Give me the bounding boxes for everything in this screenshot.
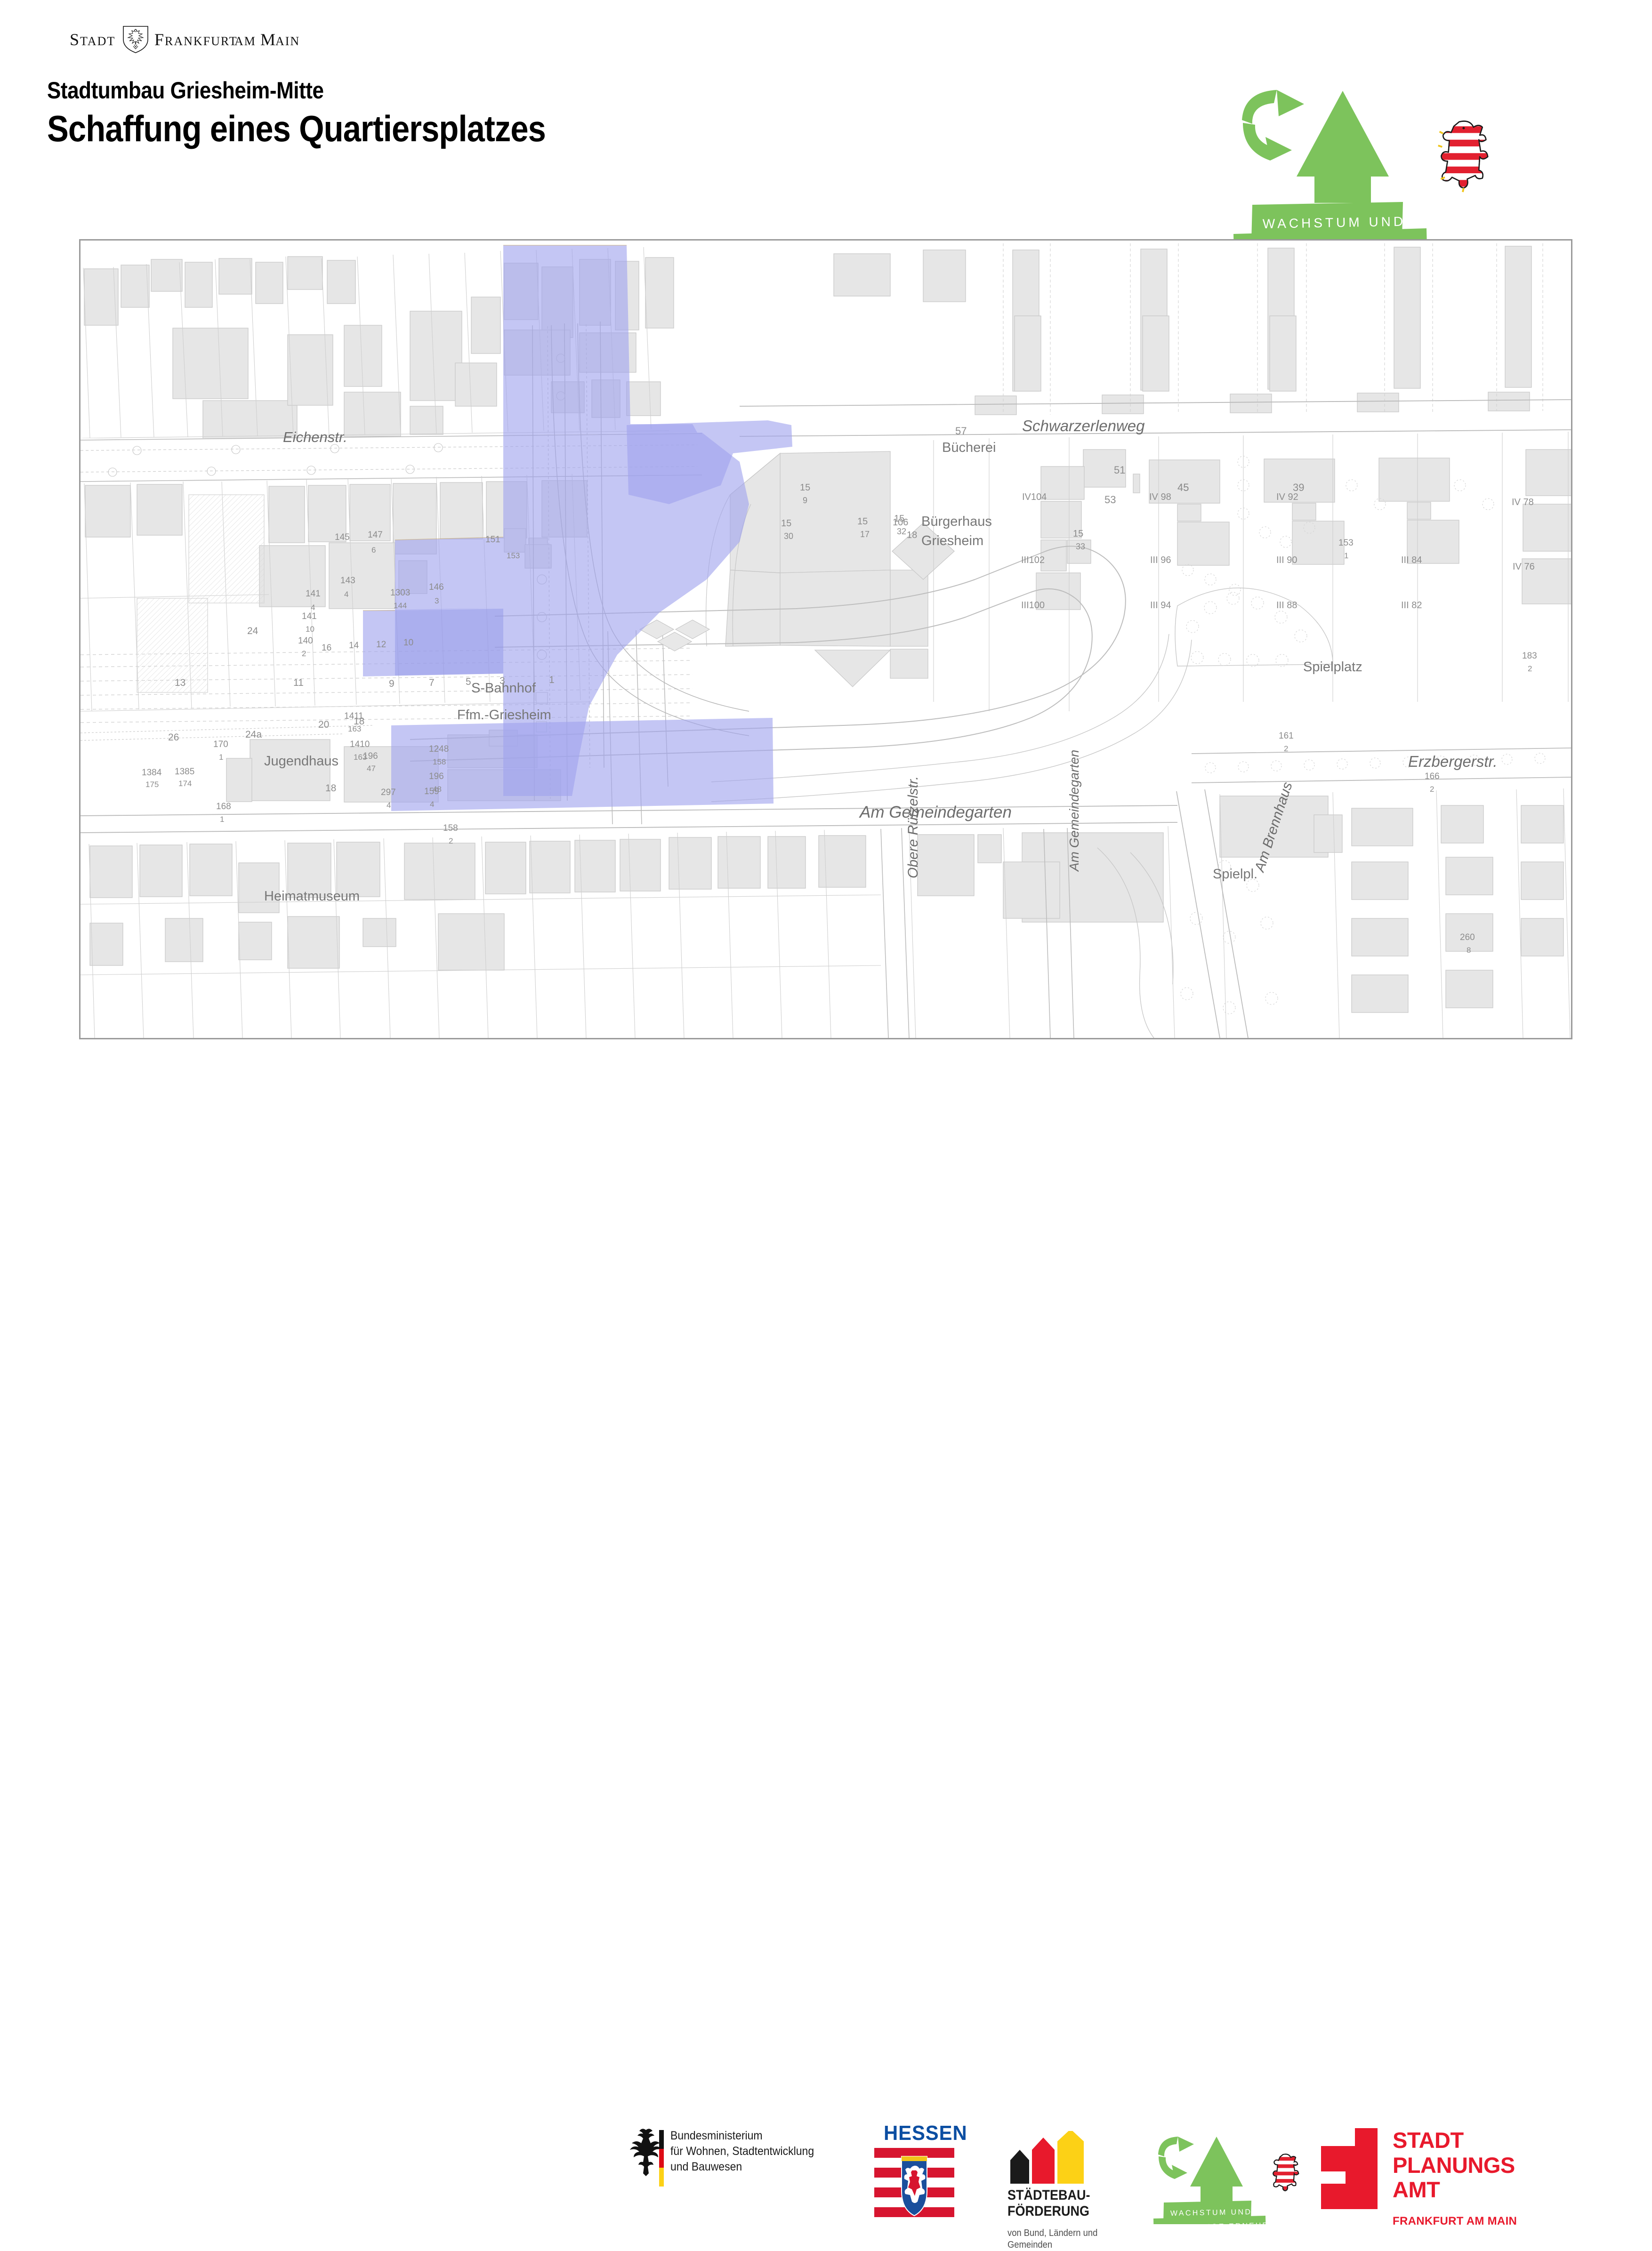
wne-footer-logo: WACHSTUM UND NACHHALTIGE ERNEUERUNG STÄD… <box>1153 2135 1314 2224</box>
bmwsb-line2: für Wohnen, Stadtentwicklung <box>670 2144 814 2159</box>
map-canvas: Eichenstr.SchwarzerlenwegAm Gemeindegart… <box>81 241 1571 1038</box>
logo-word-stadt: S <box>70 30 80 49</box>
svg-text:AIN: AIN <box>275 34 300 48</box>
stpa-line2: PLANUNGS <box>1393 2153 1515 2178</box>
stadtplanungsamt-logo: STADT PLANUNGS AMT FRANKFURT AM MAIN <box>1318 2126 1582 2216</box>
staedtebau-label: STÄDTEBAU- FÖRDERUNG <box>1007 2187 1090 2219</box>
svg-text:TADT: TADT <box>80 34 115 48</box>
staedtebau-sublabel: von Bund, Ländern und Gemeinden <box>1007 2227 1097 2251</box>
staedtebau-sub2: Gemeinden <box>1007 2239 1097 2251</box>
cadastral-map[interactable]: Eichenstr.SchwarzerlenwegAm Gemeindegart… <box>79 239 1572 1039</box>
svg-text:AM: AM <box>234 34 256 48</box>
hessen-lion-icon-small <box>1273 2154 1299 2191</box>
staedtebau-sub1: von Bund, Ländern und <box>1007 2227 1097 2239</box>
flag-gold <box>659 2168 664 2187</box>
green-arrow-up-icon-small <box>1190 2137 1243 2202</box>
bmwsb-logo: Bundesministerium für Wohnen, Stadtentwi… <box>625 2126 861 2206</box>
bmwsb-line3: und Bauwesen <box>670 2159 814 2175</box>
green-arrow-up-icon <box>1297 91 1389 203</box>
hessen-lion-icon <box>1438 121 1490 192</box>
stpa-sublabel: FRANKFURT AM MAIN <box>1393 2215 1517 2228</box>
poster-subtitle: Stadtumbau Griesheim-Mitte <box>47 78 546 104</box>
stpa-line1: STADT <box>1393 2128 1515 2153</box>
svg-text:F: F <box>154 30 164 49</box>
wne-small-line1: WACHSTUM UND <box>1170 2208 1252 2218</box>
flag-black <box>659 2130 664 2149</box>
title-block: Stadtumbau Griesheim-Mitte Schaffung ein… <box>47 78 613 149</box>
stpa-line3: AMT <box>1393 2178 1515 2203</box>
poster-page: S TADT F RANKFURT AM M AIN Stadtumbau Gr… <box>0 0 1652 1167</box>
stadtplanungsamt-label: STADT PLANUNGS AMT <box>1393 2128 1515 2203</box>
bmwsb-label: Bundesministerium für Wohnen, Stadtentwi… <box>670 2128 814 2175</box>
bmwsb-line1: Bundesministerium <box>670 2128 814 2144</box>
footer-logo-strip: Bundesministerium für Wohnen, Stadtentwi… <box>0 1057 1652 1167</box>
staedtebaufoerderung-logo: STÄDTEBAU- FÖRDERUNG von Bund, Ländern u… <box>1007 2131 1139 2220</box>
svg-text:M: M <box>260 30 275 49</box>
map-vector <box>81 241 1571 1038</box>
recycle-arrow-icon-small <box>1158 2137 1194 2179</box>
stadt-frankfurt-logo: S TADT F RANKFURT AM M AIN <box>70 24 371 54</box>
staedtebau-line1: STÄDTEBAU- <box>1007 2187 1090 2203</box>
hessen-wordmark: HESSEN <box>884 2122 967 2145</box>
flag-red <box>659 2149 664 2168</box>
svg-text:RANKFURT: RANKFURT <box>165 34 238 48</box>
stadtplanungsamt-mark-icon <box>1318 2126 1384 2211</box>
recycle-arrow-icon <box>1242 90 1304 161</box>
poster-title: Schaffung eines Quartiersplatzes <box>47 108 546 149</box>
hessen-logo: HESSEN <box>873 2122 967 2216</box>
hessen-coat-of-arms-icon <box>874 2148 954 2219</box>
badge-line1: WACHSTUM UND <box>1263 214 1406 231</box>
staedtebau-line2: FÖRDERUNG <box>1007 2203 1090 2219</box>
three-houses-icon <box>1007 2131 1088 2185</box>
